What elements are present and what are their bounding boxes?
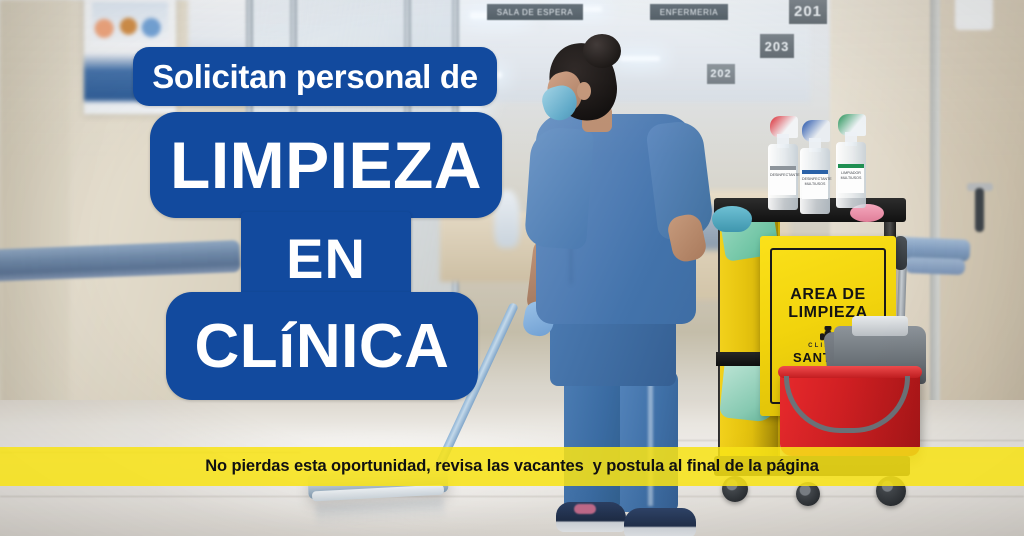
sign-line-1: AREA DE	[790, 287, 866, 304]
headline-line2-badge: EN	[241, 212, 411, 304]
headline-line3-text: CLíNICA	[195, 311, 450, 382]
wringer-plate	[852, 316, 908, 336]
headline-kicker-badge: Solicitan personal de	[133, 47, 497, 106]
room-number: 203	[765, 39, 790, 54]
worker-leg	[620, 370, 678, 512]
job-ad-poster: SALA DE ESPERA ENFERMERIA 201 203 202	[0, 0, 1024, 536]
bottle-label: LIMPIADOR MULTIUSOS	[838, 164, 864, 193]
cart-container	[712, 206, 752, 232]
room-plate-203: 203	[760, 34, 794, 58]
headline-line2-text: EN	[286, 226, 366, 291]
room-plate-201: 201	[789, 0, 827, 24]
worker-hair-bun	[583, 34, 621, 68]
wall-dispenser	[955, 0, 993, 30]
worker-leg	[564, 372, 620, 510]
headline-line1-text: LIMPIEZA	[170, 127, 482, 203]
headline-line1-badge: LIMPIEZA	[150, 112, 502, 218]
bottle-label: DESINFECTANTE MULTIUSOS	[802, 170, 828, 199]
bottom-call-to-action-banner: No pierdas esta oportunidad, revisa las …	[0, 447, 1024, 486]
room-number: 201	[794, 3, 822, 20]
banner-text: No pierdas esta oportunidad, revisa las …	[205, 457, 819, 476]
headline-kicker-text: Solicitan personal de	[152, 58, 478, 96]
bottle-label: DESINFECTANTE	[770, 166, 796, 195]
headline-line3-badge: CLíNICA	[166, 292, 478, 400]
worker-ear	[577, 82, 591, 100]
worker-shoe-accent	[574, 504, 596, 514]
worker-shoe	[624, 508, 696, 536]
door-handle-grip	[975, 188, 984, 232]
worker-sleeve	[524, 126, 594, 250]
